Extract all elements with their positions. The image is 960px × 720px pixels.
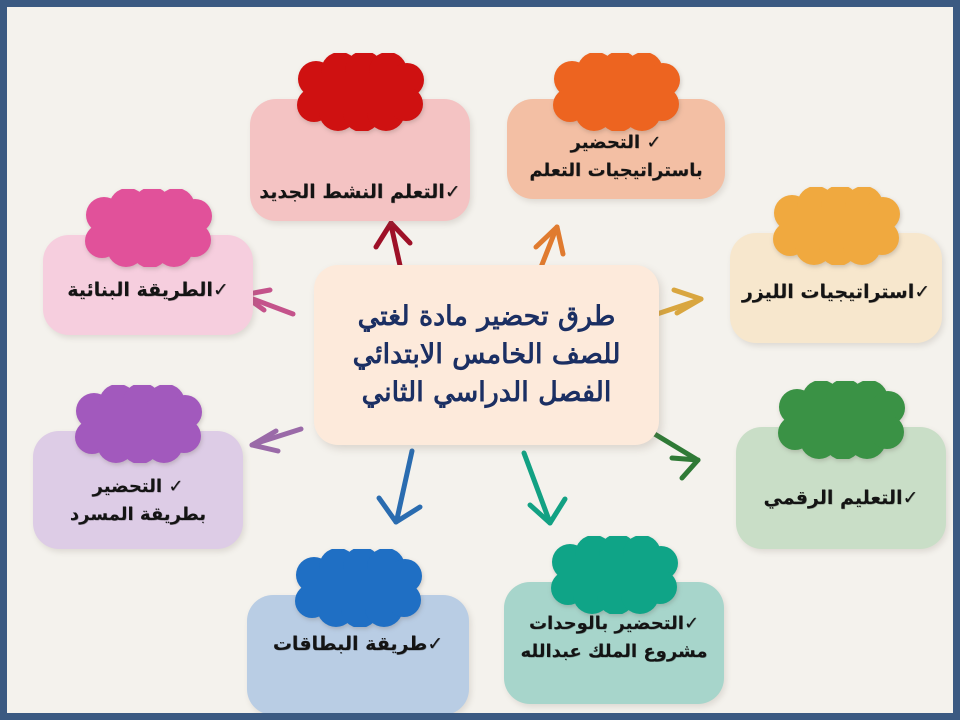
cloud-shape [553, 53, 680, 131]
node-cards-method[interactable]: ✓طريقة البطاقات [247, 595, 469, 715]
node-label: ✓التعليم الرقمي [736, 484, 946, 535]
scalloped-badge-icon [296, 53, 424, 131]
scalloped-badge-icon [552, 53, 680, 131]
node-label-line-2: بطريقة المسرد [33, 501, 243, 529]
node-label-line-1: ✓التحضير بالوحدات [504, 610, 724, 638]
center-topic-text: طرق تحضير مادة لغتي للصف الخامس الابتدائ… [353, 298, 621, 413]
cloud-shape [551, 536, 678, 614]
node-label: ✓ التحضير باستراتيجيات التعلم [507, 129, 725, 185]
node-digital-education[interactable]: ✓التعليم الرقمي [736, 427, 946, 549]
node-active-learning[interactable]: ✓التعلم النشط الجديد [250, 99, 470, 221]
cloud-shape [773, 187, 900, 265]
scalloped-badge-icon [550, 536, 678, 614]
node-label-line-1: ✓ التحضير [507, 129, 725, 157]
node-label-line-1: ✓التعليم الرقمي [736, 484, 946, 513]
cloud-shape [778, 381, 905, 459]
arrow-to-glossary-method [252, 429, 301, 451]
scalloped-badge-icon [772, 187, 900, 265]
node-label: ✓ التحضير بطريقة المسرد [33, 473, 243, 535]
node-label-line-1: ✓استراتيجيات الليزر [730, 278, 942, 307]
center-topic-card: طرق تحضير مادة لغتي للصف الخامس الابتدائ… [314, 265, 659, 445]
cloud-shape [75, 385, 202, 463]
cloud-shape [85, 189, 212, 267]
node-label-line-1: ✓ التحضير [33, 473, 243, 501]
arrow-to-cards-method [379, 451, 420, 522]
node-label: ✓طريقة البطاقات [247, 630, 469, 701]
center-topic-line-1: طرق تحضير مادة لغتي [353, 298, 621, 336]
node-label: ✓التعلم النشط الجديد [250, 178, 470, 207]
center-topic-line-2: للصف الخامس الابتدائي [353, 336, 621, 374]
scalloped-badge-icon [294, 549, 422, 627]
arrow-to-units-king-abdullah [524, 453, 565, 523]
node-label: ✓استراتيجيات الليزر [730, 278, 942, 329]
node-learning-strategies[interactable]: ✓ التحضير باستراتيجيات التعلم [507, 99, 725, 199]
cloud-shape [297, 53, 424, 131]
scalloped-badge-icon [84, 189, 212, 267]
cloud-shape [295, 549, 422, 627]
arrow-to-digital-education [648, 430, 698, 478]
node-units-king-abdullah[interactable]: ✓التحضير بالوحدات مشروع الملك عبدالله [504, 582, 724, 704]
node-constructive-method[interactable]: ✓الطريقة البنائية [43, 235, 253, 335]
node-label-line-2: باستراتيجيات التعلم [507, 157, 725, 185]
node-laser-strategies[interactable]: ✓استراتيجيات الليزر [730, 233, 942, 343]
node-label-line-1: ✓الطريقة البنائية [43, 276, 253, 305]
scalloped-badge-icon [777, 381, 905, 459]
node-label-line-1: ✓التعلم النشط الجديد [250, 178, 470, 207]
scalloped-badge-icon [74, 385, 202, 463]
node-glossary-method[interactable]: ✓ التحضير بطريقة المسرد [33, 431, 243, 549]
diagram-canvas: طرق تحضير مادة لغتي للصف الخامس الابتدائ… [0, 0, 960, 720]
node-label-line-2: مشروع الملك عبدالله [504, 638, 724, 666]
center-topic-line-3: الفصل الدراسي الثاني [353, 374, 621, 412]
node-label: ✓التحضير بالوحدات مشروع الملك عبدالله [504, 610, 724, 690]
node-label: ✓الطريقة البنائية [43, 276, 253, 321]
node-label-line-1: ✓طريقة البطاقات [247, 630, 469, 659]
